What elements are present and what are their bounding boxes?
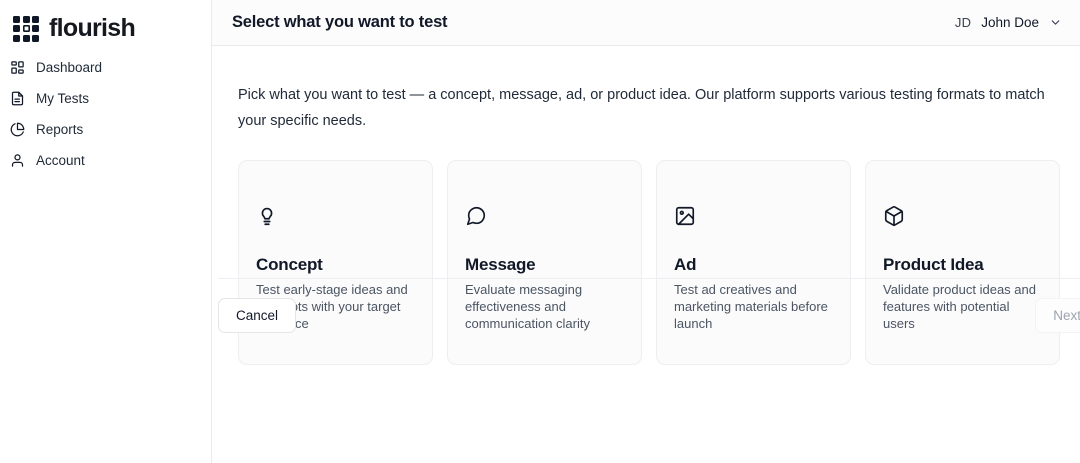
sidebar: flourish Dashboard bbox=[0, 0, 212, 463]
user-icon bbox=[9, 153, 25, 169]
footer-divider bbox=[218, 278, 1080, 279]
user-name: John Doe bbox=[981, 15, 1039, 30]
brand-wordmark: flourish bbox=[49, 16, 135, 41]
sidebar-item-label: Account bbox=[36, 153, 85, 168]
card-title: Message bbox=[465, 255, 624, 275]
test-type-card-product-idea[interactable]: Product Idea Validate product ideas and … bbox=[865, 160, 1060, 365]
cancel-button[interactable]: Cancel bbox=[218, 298, 296, 333]
sidebar-item-reports[interactable]: Reports bbox=[0, 114, 211, 145]
chevron-down-icon bbox=[1049, 16, 1062, 29]
sidebar-item-my-tests[interactable]: My Tests bbox=[0, 83, 211, 114]
top-header: Select what you want to test JD John Doe bbox=[212, 0, 1080, 46]
user-initials: JD bbox=[955, 15, 971, 30]
lightbulb-icon bbox=[256, 205, 415, 231]
sidebar-item-label: Reports bbox=[36, 122, 83, 137]
card-title: Product Idea bbox=[883, 255, 1042, 275]
file-text-icon bbox=[9, 91, 25, 107]
footer-actions: Cancel Next bbox=[218, 298, 1080, 333]
pie-chart-icon bbox=[9, 122, 25, 138]
sidebar-item-account[interactable]: Account bbox=[0, 145, 211, 176]
grid-dots-icon bbox=[13, 16, 39, 42]
user-menu[interactable]: JD John Doe bbox=[955, 15, 1062, 30]
card-title: Ad bbox=[674, 255, 833, 275]
sidebar-item-label: My Tests bbox=[36, 91, 89, 106]
next-button[interactable]: Next bbox=[1035, 298, 1080, 333]
main-area: Select what you want to test JD John Doe… bbox=[212, 0, 1080, 463]
test-type-card-ad[interactable]: Ad Test ad creatives and marketing mater… bbox=[656, 160, 851, 365]
sidebar-item-dashboard[interactable]: Dashboard bbox=[0, 52, 211, 83]
sidebar-item-label: Dashboard bbox=[36, 60, 102, 75]
app-root: flourish Dashboard bbox=[0, 0, 1080, 463]
content-area: Pick what you want to test — a concept, … bbox=[212, 46, 1080, 463]
page-title: Select what you want to test bbox=[232, 13, 447, 32]
package-box-icon bbox=[883, 205, 1042, 231]
layout-grid-icon bbox=[9, 60, 25, 76]
test-type-card-concept[interactable]: Concept Test early-stage ideas and conce… bbox=[238, 160, 433, 365]
image-icon bbox=[674, 205, 833, 231]
test-type-card-message[interactable]: Message Evaluate messaging effectiveness… bbox=[447, 160, 642, 365]
sidebar-nav: Dashboard My Tests Reports bbox=[0, 52, 211, 176]
card-title: Concept bbox=[256, 255, 415, 275]
speech-bubble-icon bbox=[465, 205, 624, 231]
brand-logo[interactable]: flourish bbox=[0, 0, 211, 46]
page-description: Pick what you want to test — a concept, … bbox=[232, 46, 1052, 134]
